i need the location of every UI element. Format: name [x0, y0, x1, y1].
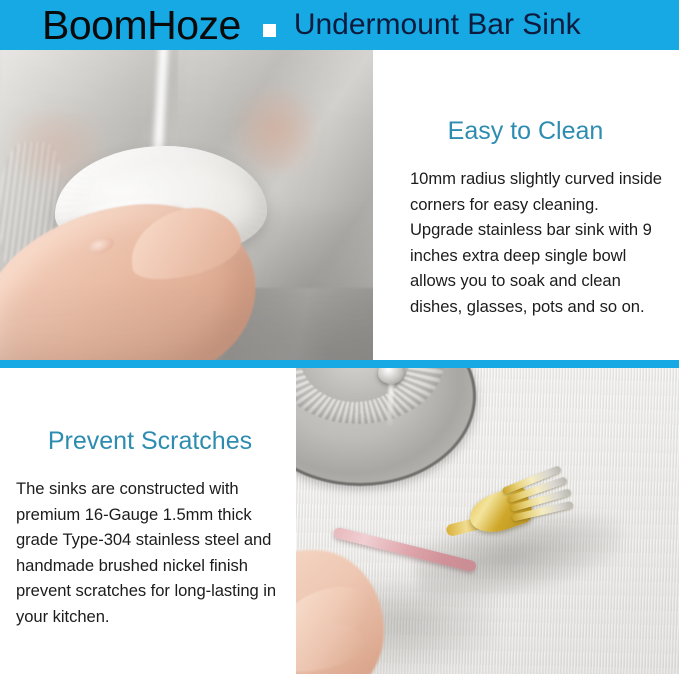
product-feature-infographic: BoomHoze Undermount Bar Sink Easy to Cle…	[0, 0, 679, 674]
header-bar: BoomHoze Undermount Bar Sink	[0, 0, 679, 50]
body-easy-to-clean: 10mm radius slightly curved inside corne…	[400, 166, 665, 319]
product-title: Undermount Bar Sink	[294, 10, 581, 40]
panel-prevent-scratches: Prevent Scratches The sinks are construc…	[0, 368, 296, 674]
image-easy-to-clean	[0, 50, 373, 360]
body-prevent-scratches: The sinks are constructed with premium 1…	[16, 476, 278, 629]
brand-logo-text: BoomHoze	[42, 5, 241, 46]
cyan-divider-bar	[0, 360, 679, 368]
image-prevent-scratches	[296, 368, 679, 674]
heading-prevent-scratches: Prevent Scratches	[16, 426, 278, 456]
panel-easy-to-clean: Easy to Clean 10mm radius slightly curve…	[373, 50, 679, 360]
white-square-separator-icon	[263, 24, 276, 37]
photo-vignette	[0, 50, 373, 360]
heading-easy-to-clean: Easy to Clean	[400, 116, 665, 146]
